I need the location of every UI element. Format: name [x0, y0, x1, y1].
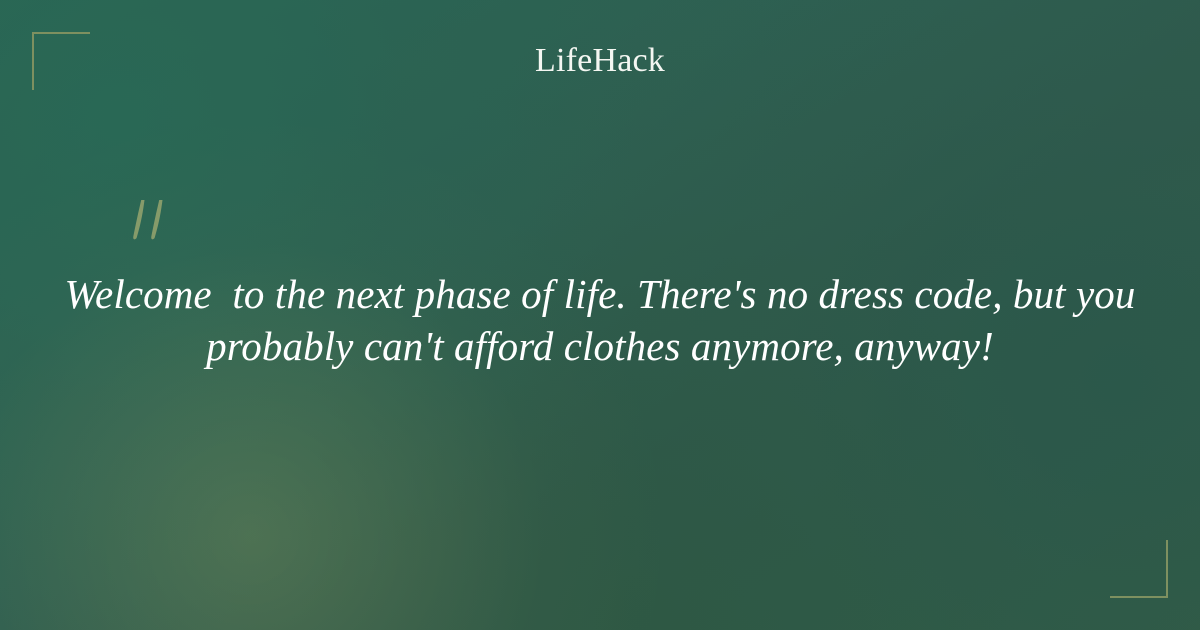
quote-text: Welcome to the next phase of life. There…: [60, 268, 1140, 372]
brand-logo-lifehack: LifeHack: [0, 40, 1200, 82]
quote-block: Welcome to the next phase of life. There…: [60, 268, 1140, 372]
quote-card: LifeHack Welcome to the next phase of li…: [0, 0, 1200, 630]
double-quote-mark-icon: [130, 198, 186, 246]
corner-bracket-bottom-right-icon: [1110, 540, 1168, 598]
